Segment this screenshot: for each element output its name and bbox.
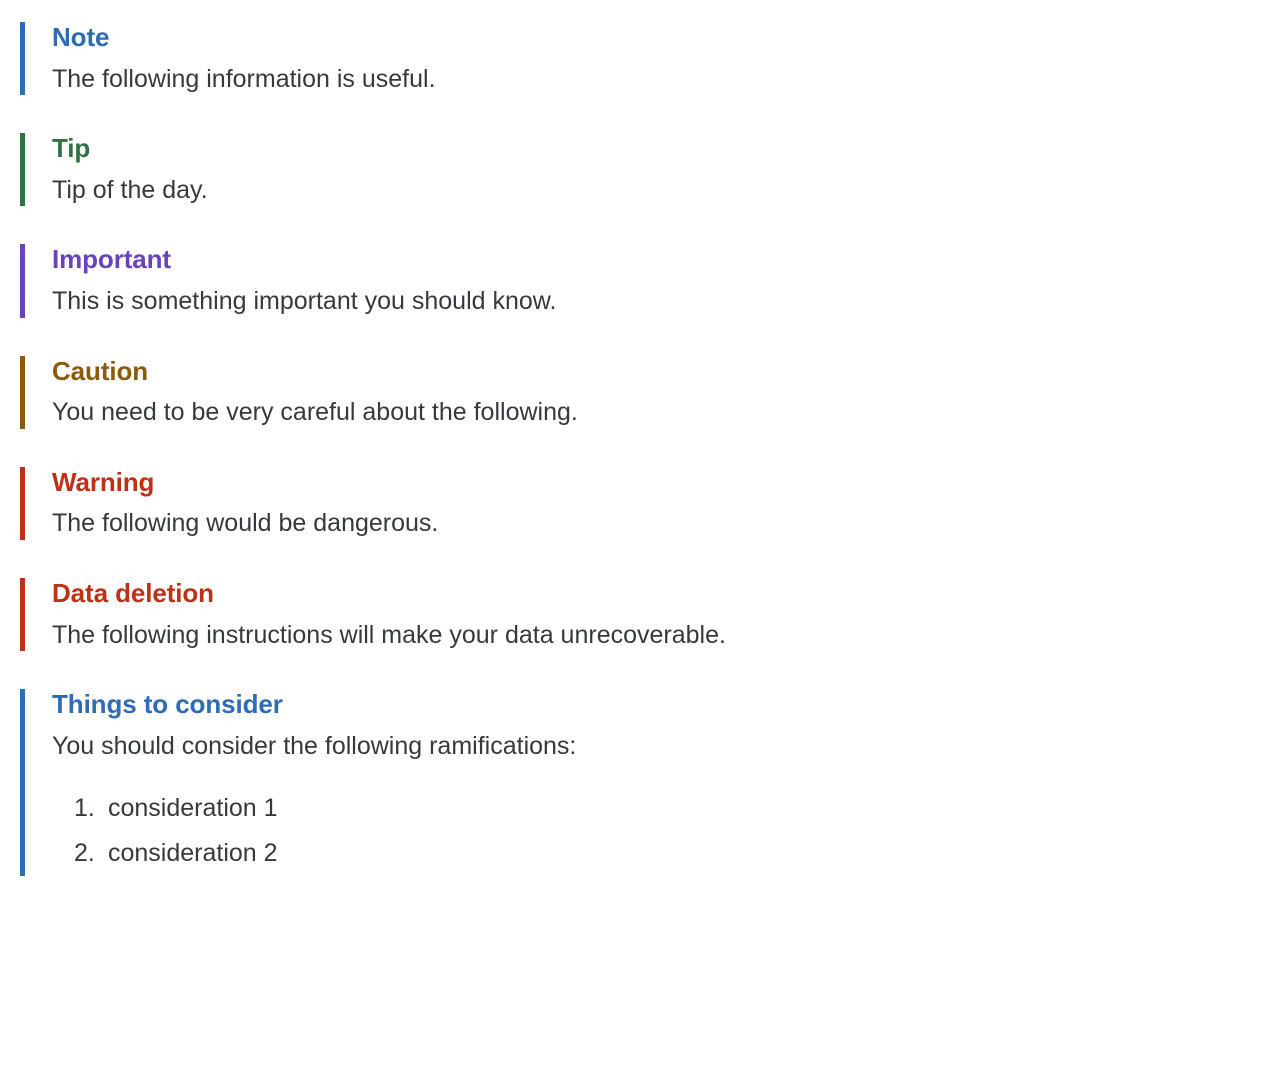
alert-body: You should consider the following ramifi… <box>52 730 1272 763</box>
list-item: consideration 2 <box>108 831 1272 876</box>
alert-title: Important <box>52 244 1272 275</box>
alert-accent-bar <box>20 467 25 540</box>
alert-body: The following instructions will make you… <box>52 619 1272 652</box>
alert-tip: Tip Tip of the day. <box>20 133 1272 206</box>
alert-accent-bar <box>20 244 25 317</box>
alert-body: This is something important you should k… <box>52 285 1272 318</box>
alert-accent-bar <box>20 22 25 95</box>
alert-accent-bar <box>20 578 25 651</box>
alert-accent-bar <box>20 689 25 876</box>
alert-body: The following information is useful. <box>52 63 1272 96</box>
document-page: Note The following information is useful… <box>0 0 1272 876</box>
alert-warning: Warning The following would be dangerous… <box>20 467 1272 540</box>
alert-body: You need to be very careful about the fo… <box>52 396 1272 429</box>
alert-body: Tip of the day. <box>52 174 1272 207</box>
alert-data-deletion: Data deletion The following instructions… <box>20 578 1272 651</box>
consideration-list: consideration 1 consideration 2 <box>52 786 1272 876</box>
alert-title: Caution <box>52 356 1272 387</box>
alert-note: Note The following information is useful… <box>20 22 1272 95</box>
alert-caution: Caution You need to be very careful abou… <box>20 356 1272 429</box>
alert-title: Note <box>52 22 1272 53</box>
alert-title: Tip <box>52 133 1272 164</box>
alert-title: Data deletion <box>52 578 1272 609</box>
alert-things-to-consider: Things to consider You should consider t… <box>20 689 1272 876</box>
alert-title: Things to consider <box>52 689 1272 720</box>
list-item: consideration 1 <box>108 786 1272 831</box>
alert-title: Warning <box>52 467 1272 498</box>
alert-body: The following would be dangerous. <box>52 507 1272 540</box>
alert-accent-bar <box>20 133 25 206</box>
alert-important: Important This is something important yo… <box>20 244 1272 317</box>
alert-accent-bar <box>20 356 25 429</box>
